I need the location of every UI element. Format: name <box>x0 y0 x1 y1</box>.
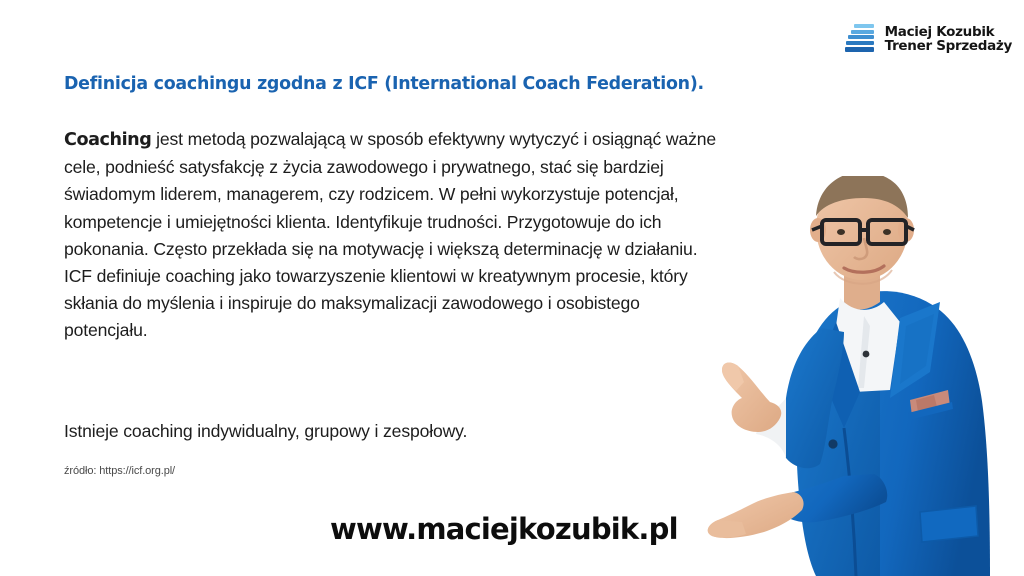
footer-website-url[interactable]: www.maciejkozubik.pl <box>330 512 678 546</box>
source-note[interactable]: źródło: https://icf.org.pl/ <box>64 465 175 477</box>
jacket-front-seam <box>844 428 856 576</box>
face <box>816 176 908 280</box>
shirt-cuff-upper <box>756 398 786 458</box>
shirt-placket <box>858 316 870 388</box>
lapel-right <box>890 302 940 398</box>
chin-shade <box>834 270 892 284</box>
suit-sleeve-lower-left <box>780 474 888 522</box>
hair <box>816 176 908 218</box>
presenter-photo <box>694 176 1024 576</box>
body-copy: Coaching jest metodą pozwalającą w sposó… <box>64 126 719 345</box>
stacked-bars-pyramid-icon <box>845 24 878 54</box>
slide-root: Maciej Kozubik Trener Sprzedaży Definicj… <box>0 0 1024 576</box>
ear-left <box>810 218 826 242</box>
logo-tagline-line: Trener Sprzedaży <box>885 39 1012 53</box>
page-title: Definicja coachingu zgodna z ICF (Intern… <box>64 74 704 94</box>
pocket-square <box>910 390 950 416</box>
paragraph-lead: Coaching jest metodą pozwalającą w sposó… <box>64 126 719 263</box>
eye-right <box>883 229 891 235</box>
nose <box>854 238 867 259</box>
mouth <box>844 266 884 272</box>
eye-left <box>837 229 845 235</box>
paragraph-icf-definition: ICF definiuje coaching jako towarzyszeni… <box>64 263 719 345</box>
breast-pocket-edge <box>908 402 953 420</box>
glasses-icon <box>812 220 914 244</box>
jacket-button <box>828 439 837 448</box>
ear-right <box>898 218 914 242</box>
palm-fingers <box>708 520 746 538</box>
index-finger <box>722 363 744 391</box>
pointing-hand <box>722 363 781 432</box>
lead-rest-text: jest metodą pozwalającą w sposób efektyw… <box>64 129 716 259</box>
pocket-square-fold <box>916 395 937 412</box>
paragraph-closing: Istnieje coaching indywidualny, grupowy … <box>64 418 719 445</box>
logo-name-line: Maciej Kozubik <box>885 25 1012 39</box>
suit-sleeve-upper-left <box>783 328 844 468</box>
suit-torso-right <box>844 291 990 576</box>
brand-logo[interactable]: Maciej Kozubik Trener Sprzedaży <box>845 24 1012 54</box>
neck <box>844 264 880 310</box>
suit-torso-left <box>796 304 880 576</box>
lead-bold-word: Coaching <box>64 130 151 150</box>
shirt <box>836 298 900 392</box>
shirt-button <box>863 351 870 358</box>
jacket-pocket <box>920 506 978 542</box>
lapel-right-shade <box>900 314 934 384</box>
open-palm-hand <box>708 492 804 538</box>
lapel-left <box>818 322 860 428</box>
